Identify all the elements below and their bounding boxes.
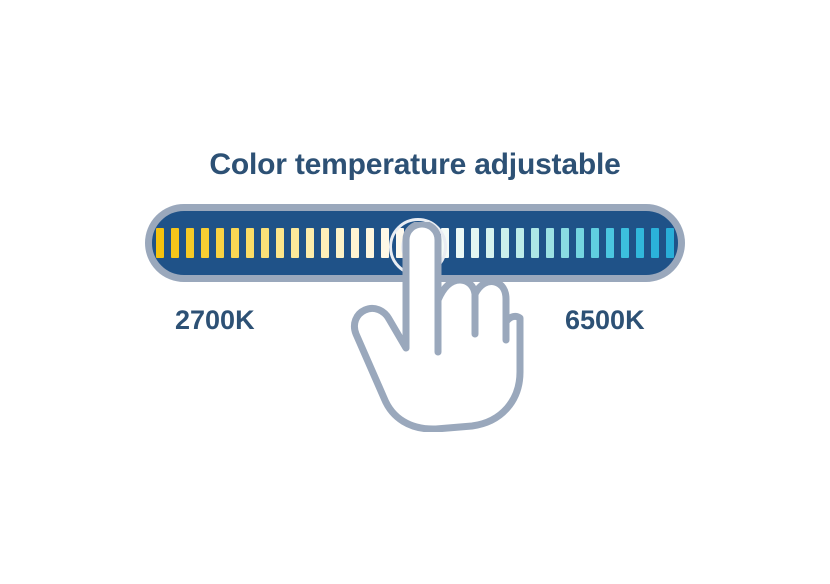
hand-pointer-icon[interactable]: [344, 222, 524, 432]
slider-segment[interactable]: [186, 228, 194, 258]
slider-segment[interactable]: [276, 228, 284, 258]
slider-segment[interactable]: [591, 228, 599, 258]
hand-pointer-svg: [344, 222, 524, 432]
slider-segment[interactable]: [216, 228, 224, 258]
slider-segment[interactable]: [306, 228, 314, 258]
label-warm-temperature: 2700K: [175, 305, 255, 336]
slider-segment[interactable]: [606, 228, 614, 258]
illustration-canvas: Color temperature adjustable 2700K 6500K: [0, 0, 830, 584]
slider-segment[interactable]: [621, 228, 629, 258]
slider-segment[interactable]: [546, 228, 554, 258]
slider-segment[interactable]: [651, 228, 659, 258]
slider-segment[interactable]: [201, 228, 209, 258]
label-cool-temperature: 6500K: [565, 305, 645, 336]
slider-segment[interactable]: [291, 228, 299, 258]
slider-segment[interactable]: [576, 228, 584, 258]
slider-segment[interactable]: [531, 228, 539, 258]
slider-segment[interactable]: [336, 228, 344, 258]
page-title: Color temperature adjustable: [0, 148, 830, 182]
slider-segment[interactable]: [666, 228, 674, 258]
slider-segment[interactable]: [261, 228, 269, 258]
slider-segment[interactable]: [636, 228, 644, 258]
slider-segment[interactable]: [561, 228, 569, 258]
slider-segment[interactable]: [246, 228, 254, 258]
slider-segment[interactable]: [171, 228, 179, 258]
slider-segment[interactable]: [321, 228, 329, 258]
slider-segment[interactable]: [231, 228, 239, 258]
slider-segment[interactable]: [156, 228, 164, 258]
